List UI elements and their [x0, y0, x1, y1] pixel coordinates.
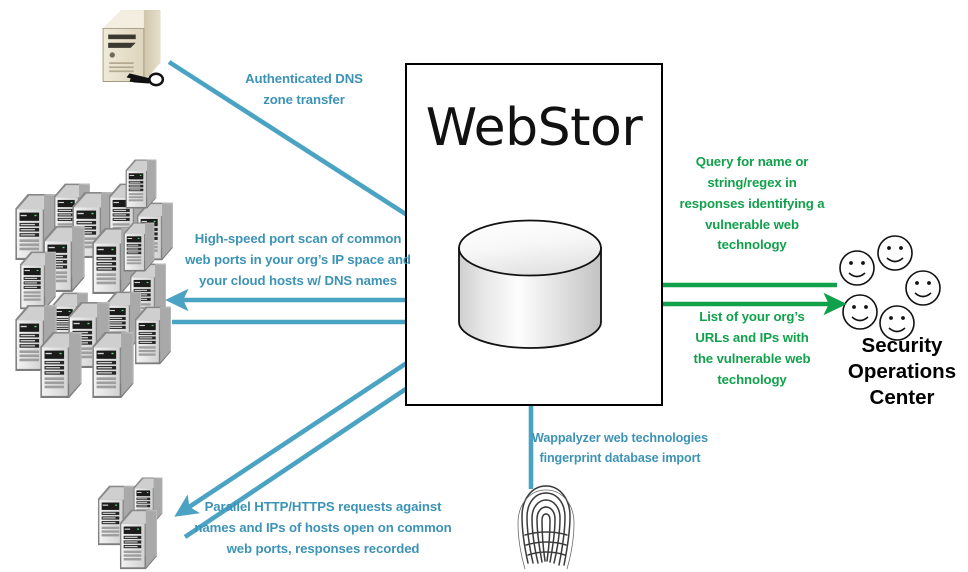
flow-label-parallel-http-requests: Parallel HTTP/HTTPS requests against nam… [178, 497, 468, 560]
smiley-faces-group-icon [840, 236, 940, 340]
fingerprint-icon [518, 486, 574, 569]
server-group-icon [98, 477, 162, 569]
flow-label-authenticated-dns-zone-transfer: Authenticated DNS zone transfer [215, 69, 393, 111]
server-farm-icon [15, 160, 173, 398]
flow-label-soc-results: List of your org’s URLs and IPs with the… [672, 307, 832, 390]
security-operations-center-label: Security Operations Center [836, 333, 968, 410]
database-cylinder-icon [457, 218, 603, 353]
server-tower-with-key-icon [103, 10, 163, 85]
flow-label-wappalyzer-import: Wappalyzer web technologies fingerprint … [522, 429, 718, 469]
webstor-title: WebStor [405, 98, 663, 158]
flow-label-soc-query: Query for name or string/regex in respon… [667, 152, 837, 256]
diagram-canvas: WebStor Authenticated DNS zone transfer … [0, 0, 968, 572]
flow-label-high-speed-port-scan: High-speed port scan of common web ports… [172, 229, 424, 292]
